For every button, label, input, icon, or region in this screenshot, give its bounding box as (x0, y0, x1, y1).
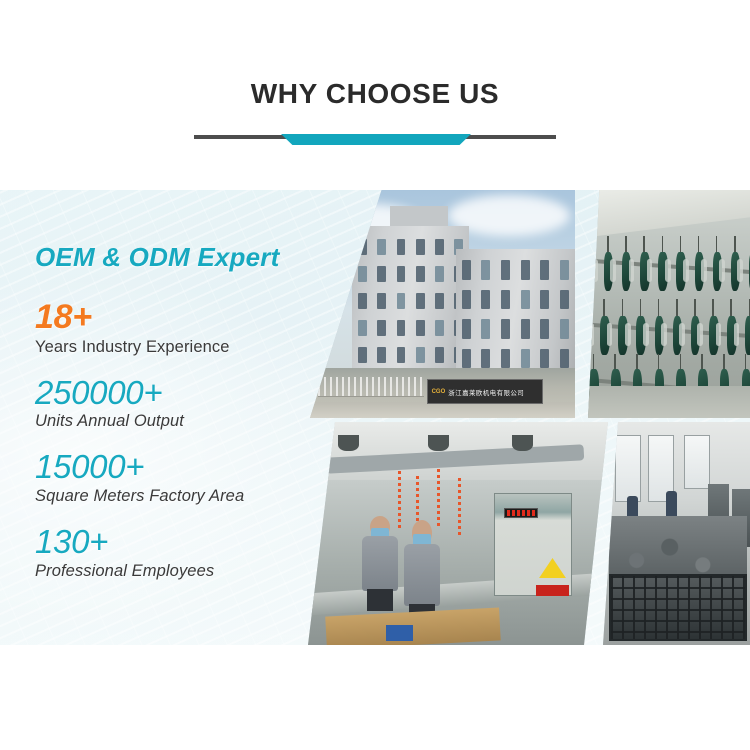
stat-value-output: 250000+ (35, 375, 365, 411)
stat-label-area: Square Meters Factory Area (35, 487, 365, 506)
stat-item-area: 15000+ Square Meters Factory Area (35, 449, 365, 506)
company-name-cn: 浙江嘉莱欧机电有限公司 (448, 387, 524, 397)
section-heading: WHY CHOOSE US (0, 78, 750, 145)
why-choose-us-section: WHY CHOOSE US OEM & ODM Expert 18+ Years… (0, 0, 750, 750)
page-title: WHY CHOOSE US (0, 78, 750, 110)
stat-value-employees: 130+ (35, 524, 365, 560)
stat-label-years: Years Industry Experience (35, 338, 365, 357)
photo-assembly-conveyor-line (588, 190, 750, 418)
stat-label-output: Units Annual Output (35, 412, 365, 431)
content-band: OEM & ODM Expert 18+ Years Industry Expe… (0, 190, 750, 645)
stat-value-years: 18+ (35, 299, 365, 336)
photo-collage: CGO 浙江嘉莱欧机电有限公司 (300, 190, 750, 645)
divider-badge (281, 134, 471, 145)
company-logo-text: CGO (432, 389, 446, 395)
stat-item-years: 18+ Years Industry Experience (35, 299, 365, 357)
stat-value-area: 15000+ (35, 449, 365, 485)
company-sign: CGO 浙江嘉莱欧机电有限公司 (427, 379, 544, 404)
photo-metal-parts-wire-baskets (600, 422, 750, 645)
stat-label-employees: Professional Employees (35, 562, 365, 581)
stats-panel: OEM & ODM Expert 18+ Years Industry Expe… (35, 242, 365, 581)
tagline: OEM & ODM Expert (35, 242, 365, 273)
heading-divider (194, 131, 556, 145)
stat-item-employees: 130+ Professional Employees (35, 524, 365, 581)
stat-item-output: 250000+ Units Annual Output (35, 375, 365, 432)
